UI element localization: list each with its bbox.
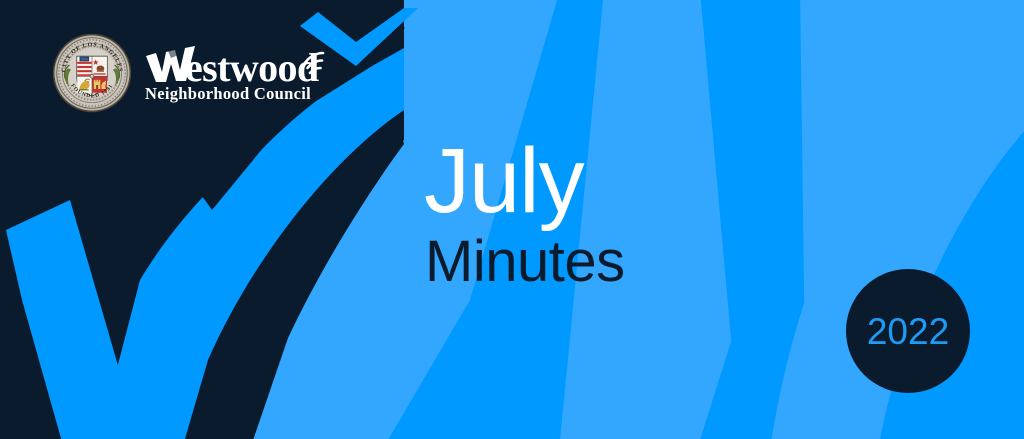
- neighborhood-council-subtitle: Neighborhood Council: [145, 86, 330, 103]
- wordmark-block: estwood Neighborhood Council: [145, 43, 330, 103]
- headline-block: July Minutes: [424, 139, 625, 291]
- logo-lockup: CITY OF LOS ANGELES FOUNDED 1781 estwood: [52, 33, 330, 113]
- year-badge: 2022: [846, 269, 970, 393]
- document-type-title: Minutes: [424, 233, 625, 291]
- banner-graphic: CITY OF LOS ANGELES FOUNDED 1781 estwood: [0, 0, 1024, 439]
- city-of-los-angeles-seal-icon: CITY OF LOS ANGELES FOUNDED 1781: [52, 33, 132, 113]
- year-badge-text: 2022: [867, 313, 949, 350]
- month-title: July: [424, 139, 625, 224]
- westwood-text-part: estwood: [185, 45, 319, 87]
- westwood-wordmark: estwood: [145, 45, 330, 87]
